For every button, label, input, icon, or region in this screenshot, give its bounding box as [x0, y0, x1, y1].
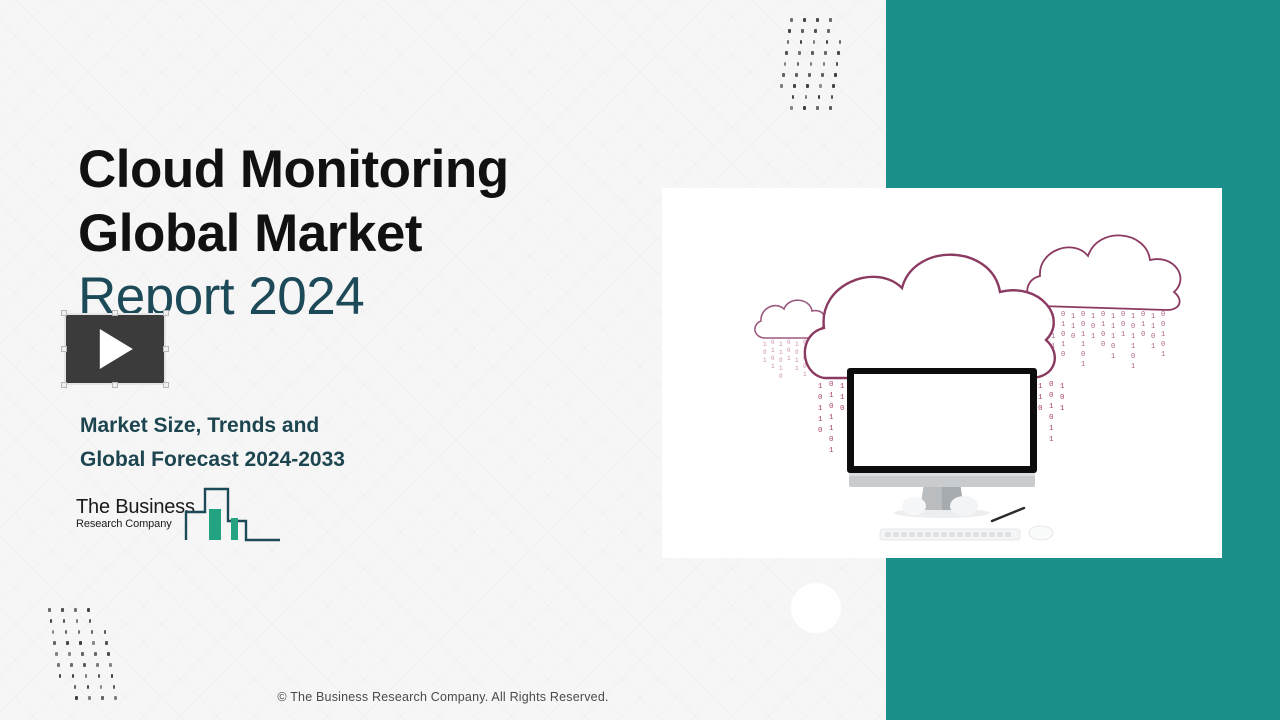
decorative-dot — [109, 663, 112, 667]
decorative-dot — [793, 84, 796, 88]
decorative-dot — [816, 106, 819, 110]
decorative-dot — [813, 40, 816, 44]
decorative-dot — [818, 95, 821, 99]
svg-text:1: 1 — [1131, 333, 1135, 341]
decorative-dot — [94, 652, 97, 656]
resize-handle-top-center[interactable] — [112, 310, 118, 316]
svg-text:1: 1 — [771, 347, 775, 354]
svg-text:0: 0 — [771, 355, 775, 362]
svg-text:1: 1 — [1081, 331, 1085, 339]
svg-text:0: 0 — [1049, 392, 1054, 400]
logo-bar-chart-icon — [184, 483, 284, 550]
resize-handle-bottom-right[interactable] — [163, 382, 169, 388]
video-frame[interactable] — [64, 313, 166, 385]
decorative-dot — [76, 619, 79, 623]
svg-text:0: 0 — [1101, 311, 1105, 319]
presentation-slide: Cloud Monitoring Global Market Report 20… — [0, 0, 1280, 720]
svg-text:0: 0 — [840, 405, 845, 413]
svg-text:1: 1 — [1091, 333, 1095, 341]
svg-text:0: 0 — [1049, 381, 1054, 389]
resize-handle-bottom-center[interactable] — [112, 382, 118, 388]
svg-text:1: 1 — [1049, 425, 1054, 433]
svg-text:1: 1 — [1131, 363, 1135, 371]
svg-text:1: 1 — [1049, 403, 1054, 411]
decorative-dot — [98, 674, 101, 678]
decorative-dot — [70, 663, 73, 667]
svg-text:0: 0 — [1161, 341, 1165, 349]
decorative-dot — [92, 641, 95, 645]
svg-text:0: 0 — [1141, 331, 1145, 339]
decorative-dot — [48, 608, 51, 612]
decorative-dot — [52, 630, 55, 634]
decorative-dot — [795, 73, 798, 77]
decorative-dot — [78, 630, 81, 634]
svg-text:0: 0 — [1101, 341, 1105, 349]
decorative-dot — [85, 674, 88, 678]
svg-text:1: 1 — [779, 365, 783, 372]
svg-text:0: 0 — [1131, 353, 1135, 361]
video-play-button[interactable] — [64, 313, 166, 385]
svg-text:1: 1 — [818, 405, 823, 413]
svg-text:0: 0 — [1071, 333, 1075, 341]
svg-text:0: 0 — [763, 349, 767, 356]
svg-text:1: 1 — [1121, 331, 1125, 339]
decorative-dot — [798, 51, 801, 55]
decorative-dot — [50, 619, 53, 623]
svg-text:0: 0 — [1061, 331, 1065, 339]
svg-text:1: 1 — [1061, 321, 1065, 329]
decorative-dot — [827, 29, 830, 33]
svg-text:0: 0 — [1151, 333, 1155, 341]
decorative-dot — [829, 18, 832, 22]
svg-text:1: 1 — [1071, 323, 1075, 331]
decorative-dot-grid-bottom — [48, 608, 108, 703]
svg-text:1: 1 — [829, 425, 834, 433]
decorative-dot — [788, 29, 791, 33]
decorative-dot — [63, 619, 66, 623]
decorative-dot — [785, 51, 788, 55]
decorative-dot — [832, 84, 835, 88]
decorative-dot — [100, 685, 103, 689]
svg-text:1: 1 — [1081, 361, 1085, 369]
decorative-dot — [829, 106, 832, 110]
footer-copyright: © The Business Research Company. All Rig… — [0, 690, 886, 704]
decorative-dot — [816, 18, 819, 22]
decorative-dot — [113, 685, 116, 689]
svg-text:0: 0 — [1038, 405, 1043, 413]
decorative-circle — [791, 583, 841, 633]
svg-text:0: 0 — [1081, 311, 1085, 319]
decorative-dot — [814, 29, 817, 33]
svg-text:1: 1 — [1161, 351, 1165, 359]
decorative-dot — [803, 18, 806, 22]
company-logo: The Business Research Company — [74, 483, 284, 545]
svg-text:1: 1 — [795, 357, 799, 364]
svg-text:1: 1 — [829, 392, 834, 400]
svg-text:0: 0 — [1141, 311, 1145, 319]
decorative-dot — [836, 62, 839, 66]
svg-text:0: 0 — [771, 339, 775, 346]
decorative-dot — [87, 608, 90, 612]
svg-text:0: 0 — [1131, 323, 1135, 331]
svg-text:0: 0 — [1081, 321, 1085, 329]
page-title: Cloud Monitoring Global Market Report 20… — [78, 138, 638, 329]
decorative-dot — [823, 62, 826, 66]
svg-text:1: 1 — [1061, 341, 1065, 349]
decorative-dot — [792, 95, 795, 99]
svg-text:0: 0 — [1049, 414, 1054, 422]
decorative-dot — [831, 95, 834, 99]
decorative-dot — [105, 641, 108, 645]
svg-text:1: 1 — [1049, 436, 1054, 444]
decorative-dot — [53, 641, 56, 645]
decorative-dot — [819, 84, 822, 88]
svg-text:1: 1 — [1111, 353, 1115, 361]
svg-text:1: 1 — [1151, 343, 1155, 351]
resize-handle-bottom-left[interactable] — [61, 382, 67, 388]
title-line-2: Global Market — [78, 202, 638, 266]
svg-text:0: 0 — [787, 339, 791, 346]
svg-text:0: 0 — [787, 347, 791, 354]
decorative-dot — [808, 73, 811, 77]
decorative-dot — [800, 40, 803, 44]
decorative-dot — [111, 674, 114, 678]
svg-text:1: 1 — [795, 365, 799, 372]
decorative-dot — [787, 40, 790, 44]
decorative-dot — [87, 685, 90, 689]
svg-text:1: 1 — [763, 341, 767, 348]
svg-text:0: 0 — [829, 381, 834, 389]
svg-text:1: 1 — [1151, 323, 1155, 331]
decorative-dot — [65, 630, 68, 634]
svg-text:1: 1 — [795, 341, 799, 348]
play-icon[interactable] — [100, 329, 133, 369]
svg-text:1: 1 — [1131, 343, 1135, 351]
decorative-dot — [66, 641, 69, 645]
resize-handle-middle-right[interactable] — [163, 346, 169, 352]
resize-handle-top-left[interactable] — [61, 310, 67, 316]
decorative-dot — [61, 608, 64, 612]
svg-text:1: 1 — [840, 383, 845, 391]
svg-text:1: 1 — [1131, 313, 1135, 321]
decorative-dot — [780, 84, 783, 88]
decorative-dot — [821, 73, 824, 77]
svg-text:1: 1 — [1111, 313, 1115, 321]
title-line-1: Cloud Monitoring — [78, 138, 638, 202]
svg-text:1: 1 — [779, 349, 783, 356]
decorative-dot — [89, 619, 92, 623]
svg-text:0: 0 — [1101, 331, 1105, 339]
decorative-dot — [805, 95, 808, 99]
svg-text:1: 1 — [1101, 321, 1105, 329]
svg-text:1: 1 — [1091, 313, 1095, 321]
decorative-dot — [81, 652, 84, 656]
decorative-dot — [79, 641, 82, 645]
svg-text:0: 0 — [779, 373, 783, 380]
decorative-dot — [834, 73, 837, 77]
decorative-dot — [107, 652, 110, 656]
svg-text:1: 1 — [1038, 383, 1043, 391]
svg-text:1: 1 — [771, 363, 775, 370]
decorative-dot — [837, 51, 840, 55]
decorative-dot — [74, 608, 77, 612]
svg-text:0: 0 — [779, 357, 783, 364]
svg-text:0: 0 — [1121, 321, 1125, 329]
svg-text:0: 0 — [1060, 394, 1065, 402]
subtitle-line-1: Market Size, Trends and — [80, 409, 560, 443]
svg-text:0: 0 — [1061, 351, 1065, 359]
decorative-dot — [811, 51, 814, 55]
decorative-dot — [797, 62, 800, 66]
resize-handle-top-right[interactable] — [163, 310, 169, 316]
svg-text:1: 1 — [1111, 333, 1115, 341]
decorative-dot — [104, 630, 107, 634]
decorative-dot — [68, 652, 71, 656]
decorative-dot — [96, 663, 99, 667]
decorative-dot — [790, 18, 793, 22]
svg-text:1: 1 — [818, 416, 823, 424]
svg-text:1: 1 — [829, 414, 834, 422]
svg-text:0: 0 — [829, 403, 834, 411]
decorative-dot — [55, 652, 58, 656]
decorative-dot — [839, 40, 842, 44]
svg-text:1: 1 — [803, 371, 807, 378]
svg-text:1: 1 — [840, 394, 845, 402]
svg-text:1: 1 — [818, 383, 823, 391]
svg-text:1: 1 — [763, 357, 767, 364]
svg-text:1: 1 — [779, 341, 783, 348]
svg-text:0: 0 — [1061, 311, 1065, 319]
decorative-dot — [83, 663, 86, 667]
svg-text:1: 1 — [1141, 321, 1145, 329]
illustration-image: 101 0101 11010 001 1011 01001 11 0101 10… — [662, 188, 1222, 558]
svg-text:1: 1 — [1071, 313, 1075, 321]
svg-text:0: 0 — [1161, 321, 1165, 329]
svg-text:0: 0 — [818, 394, 823, 402]
decorative-dot — [91, 630, 94, 634]
svg-text:0: 0 — [1111, 343, 1115, 351]
decorative-dot-grid-top — [790, 18, 850, 113]
svg-text:1: 1 — [1060, 405, 1065, 413]
decorative-dot — [57, 663, 60, 667]
svg-text:1: 1 — [829, 447, 834, 455]
decorative-dot — [826, 40, 829, 44]
decorative-dot — [72, 674, 75, 678]
subtitle-line-2: Global Forecast 2024-2033 — [80, 443, 560, 477]
svg-text:1: 1 — [1081, 341, 1085, 349]
svg-text:1: 1 — [1060, 383, 1065, 391]
decorative-dot — [59, 674, 62, 678]
svg-text:0: 0 — [829, 436, 834, 444]
decorative-dot — [801, 29, 804, 33]
resize-handle-middle-left[interactable] — [61, 346, 67, 352]
svg-text:1: 1 — [1161, 331, 1165, 339]
page-subtitle: Market Size, Trends and Global Forecast … — [80, 409, 560, 477]
svg-text:0: 0 — [1121, 311, 1125, 319]
decorative-dot — [782, 73, 785, 77]
svg-text:1: 1 — [1111, 323, 1115, 331]
decorative-dot — [810, 62, 813, 66]
decorative-dot — [803, 106, 806, 110]
svg-text:0: 0 — [1091, 323, 1095, 331]
decorative-dot — [806, 84, 809, 88]
svg-text:1: 1 — [1151, 313, 1155, 321]
svg-text:0: 0 — [795, 349, 799, 356]
svg-text:0: 0 — [1161, 311, 1165, 319]
svg-text:1: 1 — [787, 355, 791, 362]
decorative-dot — [784, 62, 787, 66]
svg-text:1: 1 — [1038, 394, 1043, 402]
decorative-dot — [74, 685, 77, 689]
decorative-dot — [824, 51, 827, 55]
svg-text:0: 0 — [1081, 351, 1085, 359]
svg-text:0: 0 — [818, 427, 823, 435]
decorative-dot — [790, 106, 793, 110]
